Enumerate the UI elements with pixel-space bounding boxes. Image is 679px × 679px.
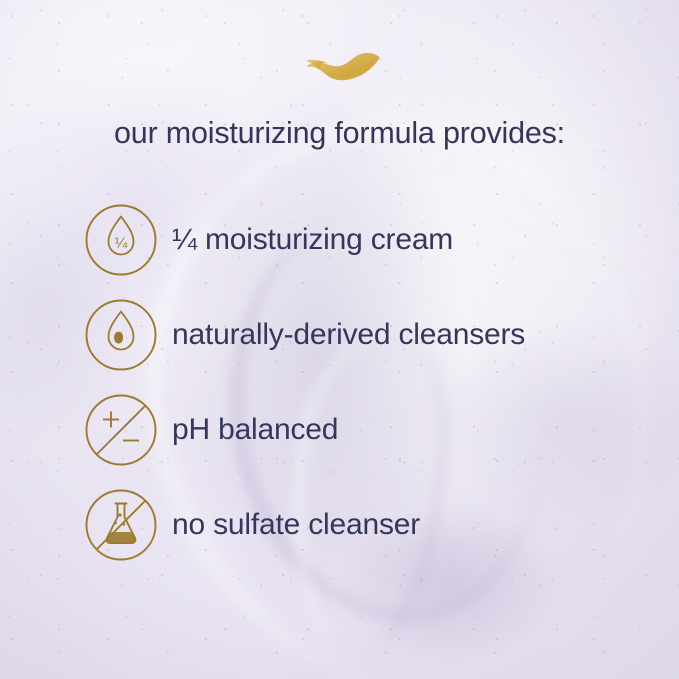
poster-content: our moisturizing formula provides: ¼ ¼ m… bbox=[0, 0, 679, 679]
quarter-moisturizing-cream-droplet-icon: ¼ bbox=[84, 203, 158, 277]
list-item-label: pH balanced bbox=[172, 413, 338, 446]
page-title: our moisturizing formula provides: bbox=[0, 116, 679, 151]
dove-bird-icon bbox=[296, 44, 384, 88]
droplet-fraction-label: ¼ bbox=[115, 234, 128, 251]
list-item-label: naturally-derived cleansers bbox=[172, 318, 525, 351]
brand-logo bbox=[0, 44, 679, 88]
ph-balanced-plus-minus-icon bbox=[84, 393, 158, 467]
product-benefits-poster: our moisturizing formula provides: ¼ ¼ m… bbox=[0, 0, 679, 679]
leaf-shape bbox=[115, 332, 123, 343]
naturally-derived-droplet-leaf-icon bbox=[84, 298, 158, 372]
list-item-label: ¼ moisturizing cream bbox=[172, 223, 453, 256]
flask-liquid bbox=[107, 532, 136, 543]
list-item-label: no sulfate cleanser bbox=[172, 508, 420, 541]
list-item: no sulfate cleanser bbox=[84, 477, 644, 572]
no-sulfate-flask-crossed-icon bbox=[84, 488, 158, 562]
benefits-list: ¼ ¼ moisturizing cream naturally-derived… bbox=[84, 192, 644, 572]
list-item: pH balanced bbox=[84, 382, 644, 477]
list-item: ¼ ¼ moisturizing cream bbox=[84, 192, 644, 287]
list-item: naturally-derived cleansers bbox=[84, 287, 644, 382]
